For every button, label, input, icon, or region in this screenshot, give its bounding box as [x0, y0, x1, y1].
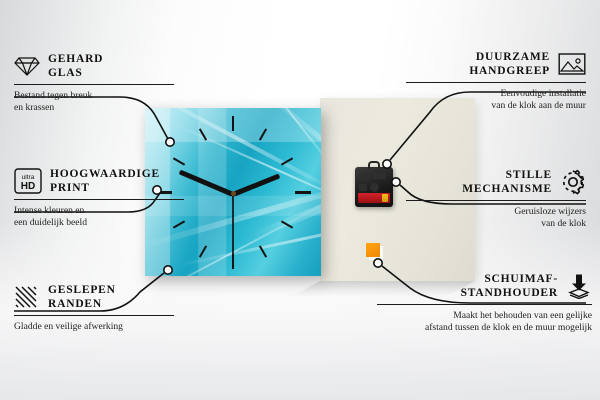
feature-rule: [406, 200, 586, 201]
clock-hands-hub: [231, 191, 236, 196]
diamond-icon: [14, 55, 40, 77]
feature-title-line2: RANDEN: [48, 297, 116, 311]
feature-header: GEHARD GLAS: [14, 52, 174, 80]
feature-title-line1: HOOGWAARDIGE: [50, 167, 160, 181]
mechanism-detail: [359, 184, 367, 191]
feature-title-line1: GEHARD: [48, 52, 103, 66]
mechanism-hanger: [368, 161, 380, 169]
feature-desc-line1: Gladde en veilige afwerking: [14, 321, 174, 333]
feature-title: GEHARD GLAS: [48, 52, 103, 80]
clock-tick-6: [232, 254, 234, 269]
feature-header: ultra HD HOOGWAARDIGE PRINT: [14, 167, 184, 195]
mechanism-detail: [370, 183, 379, 192]
feature-title-line1: SCHUIMAF-: [461, 272, 558, 286]
feature-description: Gladde en veilige afwerking: [14, 321, 174, 333]
arrow-down-pad-icon: [566, 273, 592, 299]
bevelled-edges-icon: [14, 285, 40, 309]
feature-description: Maakt het behouden van een gelijke afsta…: [377, 310, 592, 335]
feature-rule: [14, 199, 184, 200]
feature-desc-line2: van de klok: [406, 218, 586, 230]
clock-second-hand: [232, 192, 234, 254]
feature-desc-line1: Maakt het behouden van een gelijke: [377, 310, 592, 322]
feature-header: SCHUIMAF- STANDHOUDER: [377, 272, 592, 300]
feature-desc-line1: Eenvoudige installatie: [406, 88, 586, 100]
feature-schuimafstandhouder[interactable]: SCHUIMAF- STANDHOUDER Maakt het behouden…: [377, 272, 592, 335]
mechanism-detail: [359, 173, 370, 181]
feature-rule: [14, 84, 174, 85]
feature-desc-line1: Geruisloze wijzers: [406, 206, 586, 218]
feature-description: Geruisloze wijzers van de klok: [406, 206, 586, 231]
foam-spacer-pad: [366, 243, 380, 257]
feature-title: DUURZAME HANDGREEP: [469, 50, 550, 78]
feature-stille-mechanisme[interactable]: STILLE MECHANISME Geruisloze wijzers van…: [406, 168, 586, 231]
feature-title-line2: PRINT: [50, 181, 160, 195]
feature-header: GESLEPEN RANDEN: [14, 283, 174, 311]
feature-title-line1: DUURZAME: [469, 50, 550, 64]
feature-geslepen-randen[interactable]: GESLEPEN RANDEN Gladde en veilige afwerk…: [14, 283, 174, 333]
svg-text:HD: HD: [21, 181, 35, 192]
feature-desc-line2: afstand tussen de klok en de muur mogeli…: [377, 322, 592, 334]
feature-description: Intense kleuren en een duidelijk beeld: [14, 205, 184, 230]
feature-title-line1: STILLE: [462, 168, 552, 182]
feature-title-line1: GESLEPEN: [48, 283, 116, 297]
feature-title-line2: STANDHOUDER: [461, 286, 558, 300]
picture-frame-icon: [558, 52, 586, 76]
feature-header: DUURZAME HANDGREEP: [406, 50, 586, 78]
feature-title-line2: GLAS: [48, 66, 103, 80]
mechanism-detail: [373, 173, 386, 179]
feature-title: GESLEPEN RANDEN: [48, 283, 116, 311]
ultra-hd-icon: ultra HD: [14, 168, 42, 194]
feature-rule: [377, 304, 592, 305]
feature-rule: [406, 82, 586, 83]
feature-desc-line1: Bestand tegen breuk: [14, 90, 174, 102]
feature-title-line2: MECHANISME: [462, 182, 552, 196]
svg-text:ultra: ultra: [22, 174, 35, 181]
feature-title: STILLE MECHANISME: [462, 168, 552, 196]
clock-tick-12: [232, 116, 234, 131]
clock-tick-3: [295, 191, 311, 194]
feature-title-line2: HANDGREEP: [469, 64, 550, 78]
feature-header: STILLE MECHANISME: [406, 168, 586, 196]
feature-title: SCHUIMAF- STANDHOUDER: [461, 272, 558, 300]
feature-hoogwaardige-print[interactable]: ultra HD HOOGWAARDIGE PRINT Intense kleu…: [14, 167, 184, 230]
feature-desc-line2: en krassen: [14, 102, 174, 114]
mechanism-battery: [358, 193, 390, 203]
feature-rule: [14, 315, 174, 316]
feature-description: Bestand tegen breuk en krassen: [14, 90, 174, 115]
feature-title: HOOGWAARDIGE PRINT: [50, 167, 160, 195]
feature-duurzame-handgreep[interactable]: DUURZAME HANDGREEP Eenvoudige installati…: [406, 50, 586, 113]
feature-gehard-glas[interactable]: GEHARD GLAS Bestand tegen breuk en krass…: [14, 52, 174, 115]
feature-desc-line2: een duidelijk beeld: [14, 217, 184, 229]
clock-mechanism: [355, 167, 393, 207]
infographic-stage: GEHARD GLAS Bestand tegen breuk en krass…: [0, 0, 600, 400]
gear-icon: [560, 169, 586, 195]
feature-desc-line1: Intense kleuren en: [14, 205, 184, 217]
feature-description: Eenvoudige installatie van de klok aan d…: [406, 88, 586, 113]
feature-desc-line2: van de klok aan de muur: [406, 100, 586, 112]
